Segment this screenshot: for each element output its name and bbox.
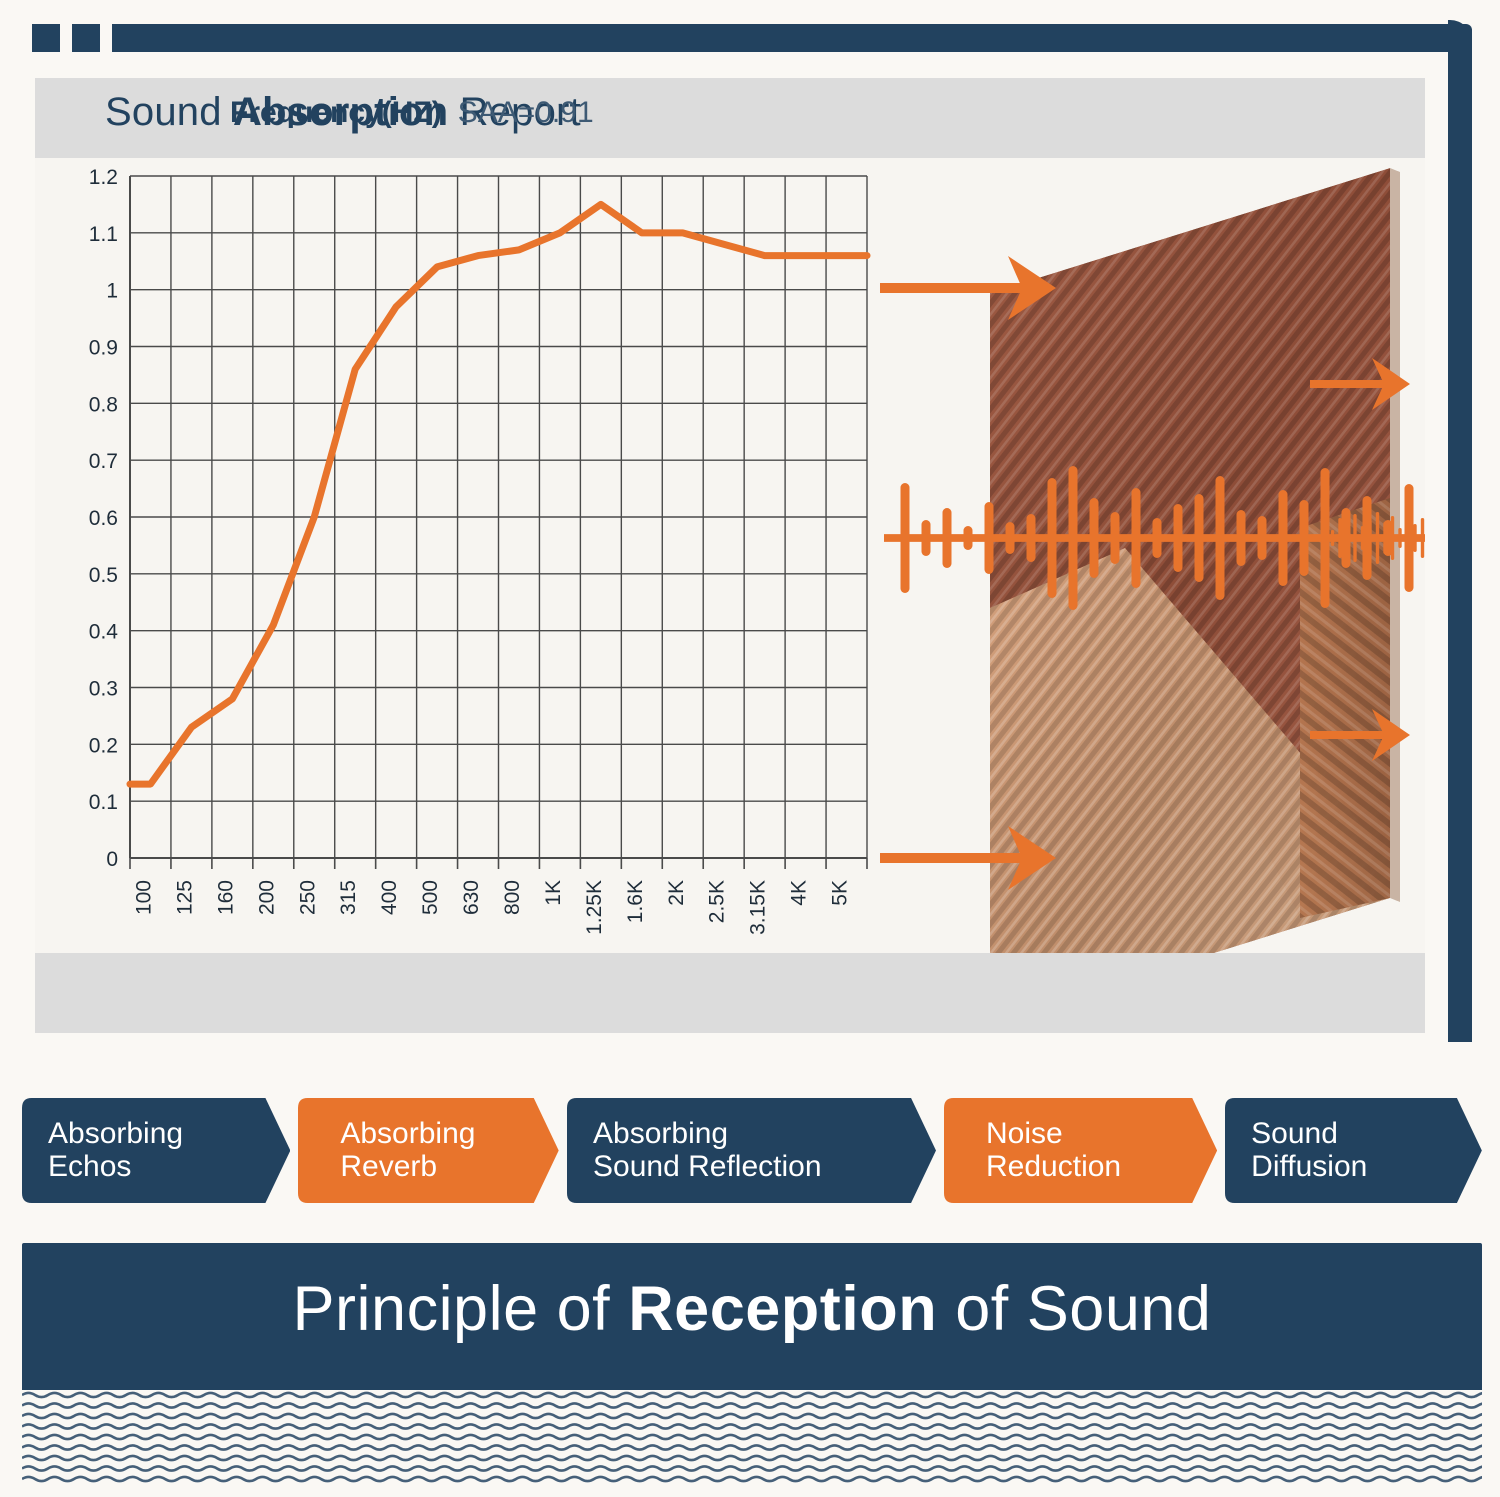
svg-text:400: 400: [378, 880, 401, 915]
svg-text:0.1: 0.1: [89, 791, 118, 814]
svg-text:800: 800: [501, 880, 524, 915]
wave-pattern: [22, 1390, 1482, 1483]
feature-badge[interactable]: Absorbing Sound Reflection: [567, 1098, 936, 1203]
window-right-border: [1448, 46, 1472, 1042]
svg-text:0.8: 0.8: [89, 393, 118, 416]
svg-text:3.15K: 3.15K: [747, 880, 770, 935]
svg-text:1.2: 1.2: [89, 166, 118, 189]
svg-text:5K: 5K: [829, 880, 852, 906]
badge-label: Absorbing Sound Reflection: [567, 1118, 822, 1183]
svg-text:0.7: 0.7: [89, 450, 118, 473]
saa-value: SAA=0.91: [458, 96, 594, 129]
svg-text:500: 500: [419, 880, 442, 915]
svg-text:4K: 4K: [788, 880, 811, 906]
svg-text:0.3: 0.3: [89, 678, 118, 701]
feature-badge[interactable]: Sound Diffusion: [1225, 1098, 1482, 1203]
banner-title-suffix: of Sound: [937, 1274, 1211, 1344]
chart-canvas: 00.10.20.30.40.50.60.70.80.911.11.2 1001…: [72, 158, 882, 953]
badge-label: Absorbing Reverb: [298, 1118, 475, 1183]
report-footer-bar: [35, 953, 1425, 1033]
svg-text:1.1: 1.1: [89, 223, 118, 246]
svg-text:200: 200: [255, 880, 278, 915]
svg-text:0.5: 0.5: [89, 564, 118, 587]
badge-label: Absorbing Echos: [22, 1118, 183, 1183]
badge-label: Noise Reduction: [944, 1118, 1121, 1183]
banner-title-bold: Reception: [628, 1274, 937, 1344]
svg-text:0.2: 0.2: [89, 734, 118, 757]
chart-axis-caption: Frequency(HZ)SAA=0.91: [230, 96, 594, 130]
feature-badge[interactable]: Noise Reduction: [944, 1098, 1217, 1203]
svg-text:2K: 2K: [665, 880, 688, 906]
absorption-chart: 00.10.20.30.40.50.60.70.80.911.11.2 1001…: [72, 158, 882, 953]
banner-title-prefix: Principle of: [293, 1274, 629, 1344]
svg-text:125: 125: [173, 880, 196, 915]
svg-text:1: 1: [106, 280, 118, 303]
svg-text:100: 100: [132, 880, 155, 915]
svg-text:0: 0: [106, 848, 118, 871]
svg-text:1.25K: 1.25K: [583, 880, 606, 935]
window-dot-1: [32, 24, 60, 52]
svg-text:1K: 1K: [542, 880, 565, 906]
svg-text:250: 250: [296, 880, 319, 915]
banner-title: Principle of Reception of Sound: [22, 1273, 1482, 1345]
window-title-bar: [112, 24, 1472, 52]
svg-text:1.6K: 1.6K: [624, 880, 647, 923]
bottom-banner: Principle of Reception of Sound: [22, 1243, 1482, 1483]
svg-text:315: 315: [337, 880, 360, 915]
window-dots: [32, 24, 100, 52]
acoustic-panel-illustration: [870, 158, 1425, 953]
panel-canvas: [870, 158, 1425, 953]
frequency-label: Frequency(HZ): [230, 96, 442, 129]
svg-text:2.5K: 2.5K: [706, 880, 729, 923]
svg-text:630: 630: [460, 880, 483, 915]
feature-badge[interactable]: Absorbing Echos: [22, 1098, 290, 1203]
svg-text:0.9: 0.9: [89, 337, 118, 360]
badge-label: Sound Diffusion: [1225, 1118, 1367, 1183]
feature-badge[interactable]: Absorbing Reverb: [298, 1098, 559, 1203]
svg-text:0.6: 0.6: [89, 507, 118, 530]
svg-text:0.4: 0.4: [89, 621, 119, 644]
sound-absorption-report-card: Sound Absorption Report 00.10.20.30.40.5…: [35, 78, 1425, 1033]
report-title-prefix: Sound: [105, 90, 233, 134]
feature-badge-row: Absorbing EchosAbsorbing ReverbAbsorbing…: [22, 1098, 1482, 1203]
window-dot-2: [72, 24, 100, 52]
svg-text:160: 160: [214, 880, 237, 915]
